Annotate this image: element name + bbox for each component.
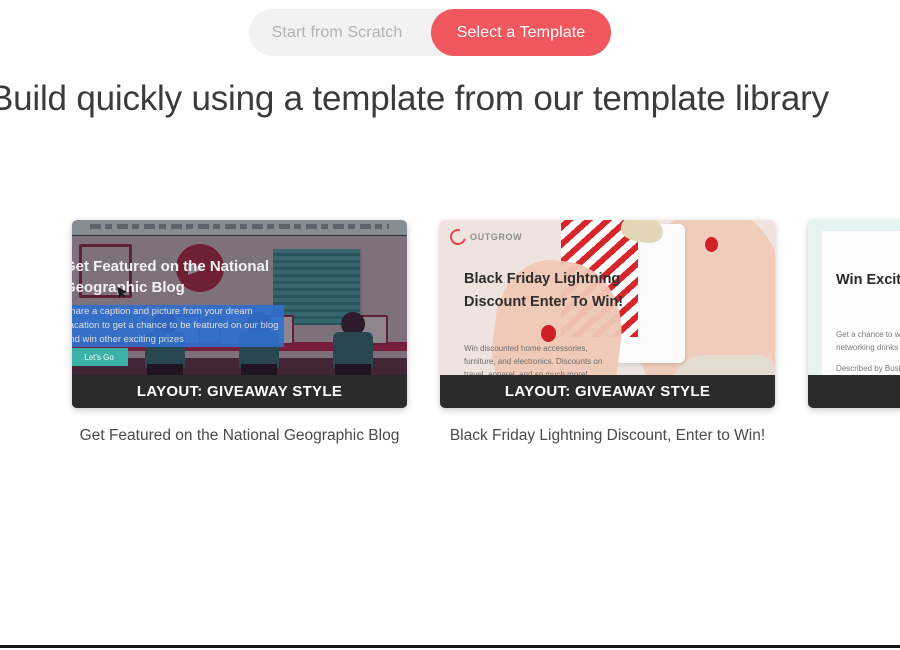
template-caption: Get Featured on the National Geographic … <box>72 424 407 447</box>
page-title: Build quickly using a template from our … <box>0 76 890 122</box>
fingernail-shape <box>541 325 556 342</box>
template-card[interactable]: Win Exciting P Sample Confe Get a chance… <box>808 220 900 447</box>
toggle-option-start-from-scratch[interactable]: Start from Scratch <box>249 9 431 56</box>
template-caption: Win Excitin <box>808 424 900 447</box>
template-thumbnail[interactable]: Get Featured on the National Geographic … <box>72 220 407 408</box>
template-card[interactable]: Get Featured on the National Geographic … <box>72 220 407 447</box>
template-thumbnail[interactable]: Win Exciting P Sample Confe Get a chance… <box>808 220 900 408</box>
preview-body-line: Get a chance to win free ti <box>836 328 900 341</box>
bottom-divider <box>0 645 900 648</box>
preview-cta-button[interactable]: Let's Go <box>72 348 128 366</box>
mode-toggle[interactable]: Start from Scratch Select a Template <box>249 9 611 56</box>
preview-body: Share a caption and picture from your dr… <box>72 305 284 347</box>
outgrow-logo: OUTGROW <box>450 229 522 245</box>
outgrow-mark-icon <box>447 226 469 248</box>
outgrow-wordmark: OUTGROW <box>470 232 522 242</box>
preview-body-line: Described by Business Insi <box>836 362 900 375</box>
preview-title: Black Friday Lightning Discount Enter To… <box>464 268 644 314</box>
template-card[interactable]: OUTGROW Black Friday Lightning Discount … <box>440 220 775 447</box>
layout-style-badge: LAYOUT: GIVEAWAY STYLE <box>72 375 407 408</box>
toggle-option-select-a-template[interactable]: Select a Template <box>431 9 611 56</box>
preview-title: Win Exciting P Sample Confe <box>836 268 900 292</box>
layout-style-badge: LAYOUT: GIVEAWAY STYLE <box>440 375 775 408</box>
template-card-list: Get Featured on the National Geographic … <box>0 220 900 470</box>
layout-style-badge: LA <box>808 375 900 408</box>
fingernail-shape <box>705 237 718 252</box>
template-thumbnail[interactable]: OUTGROW Black Friday Lightning Discount … <box>440 220 775 408</box>
preview-title: Get Featured on the National Geographic … <box>72 256 314 298</box>
preview-body-line: networking drinks with our <box>836 341 900 354</box>
template-caption: Black Friday Lightning Discount, Enter t… <box>440 424 775 447</box>
